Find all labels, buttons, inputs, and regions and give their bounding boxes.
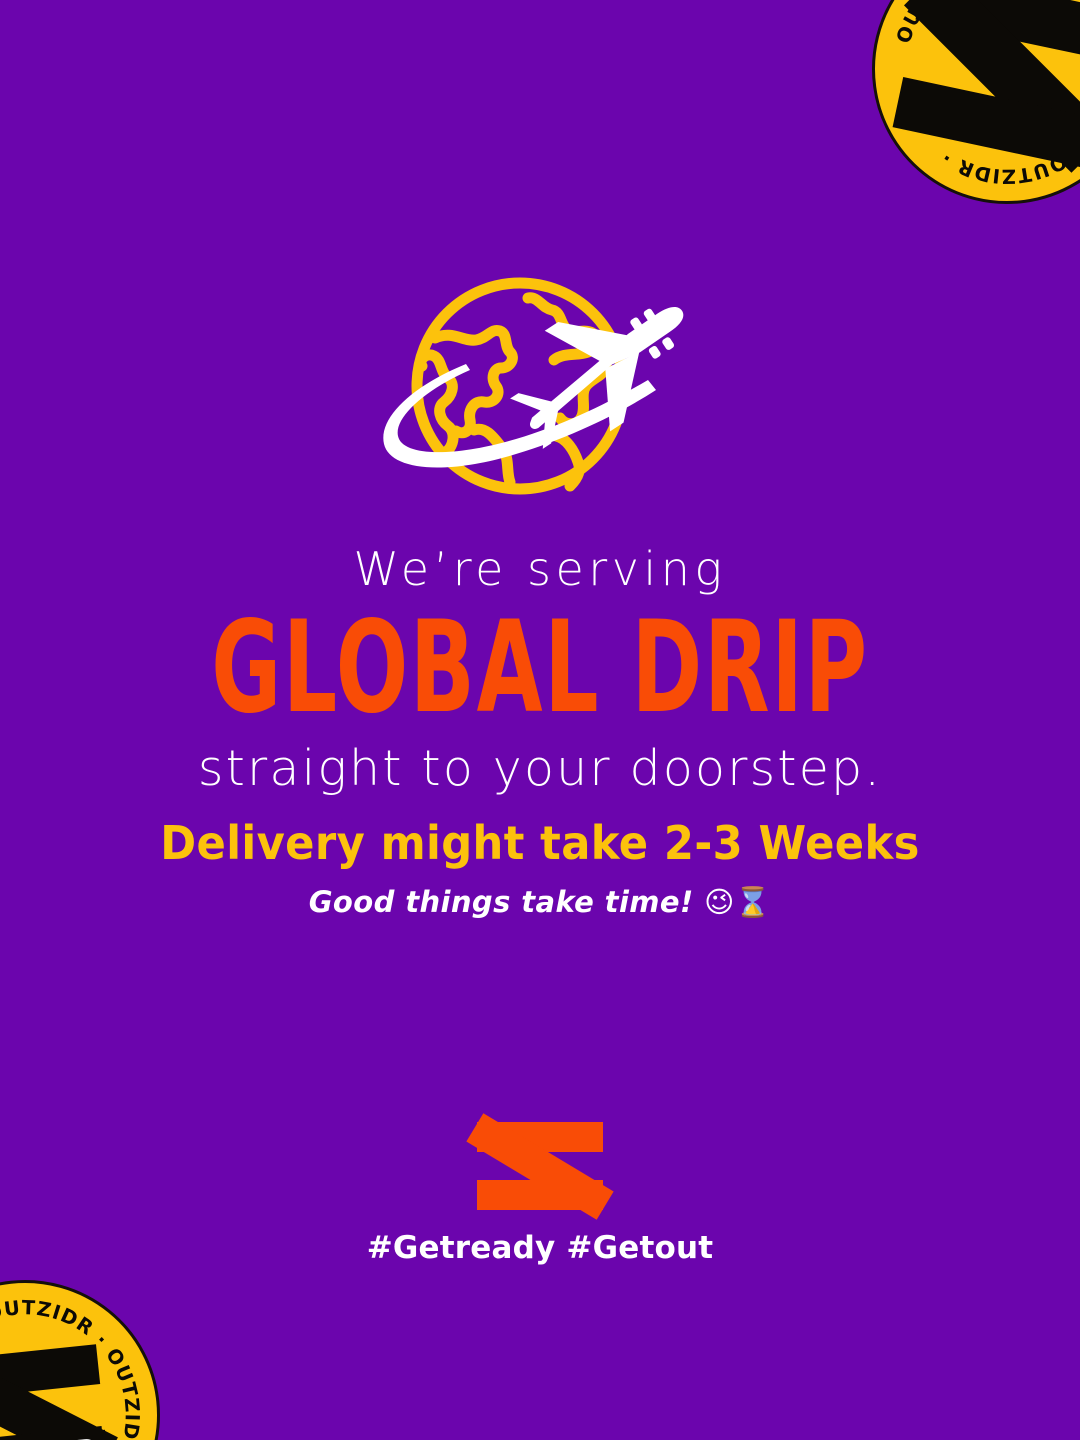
globe-with-airplane-icon xyxy=(360,268,720,518)
z-mark-icon xyxy=(0,1342,115,1440)
delivery-subnote-text: Good things take time! xyxy=(309,885,694,919)
main-copy-block: We’re serving GLOBAL DRIP straight to yo… xyxy=(0,545,1080,795)
stamp-badge-bottom-left: OUTZIDR · OUTZIDR · OUTZIDR · OUTZIDR · … xyxy=(0,1267,173,1440)
copy-eyebrow: We’re serving xyxy=(0,545,1080,593)
delivery-headline: Delivery might take 2-3 Weeks xyxy=(32,818,1047,869)
footer-brand-block: #Getready #Getout xyxy=(0,1122,1080,1266)
brand-z-bar-bottom xyxy=(477,1180,603,1210)
hourglass-emoji-icon: ⌛ xyxy=(735,885,772,919)
winking-face-emoji-icon: 😉 xyxy=(704,885,735,919)
stamp-core-z-bottom-left: OUTZIDR xyxy=(0,1342,115,1440)
stamp-badge-top-right: OUTZIDR · OUTZIDR · OUTZIDR · OUTZIDR · xyxy=(843,0,1080,233)
stamp-wordmark-suffix: IDR xyxy=(43,1434,98,1440)
footer-hashtags: #Getready #Getout xyxy=(0,1230,1080,1266)
delivery-note-block: Delivery might take 2-3 Weeks Good thing… xyxy=(0,818,1080,919)
delivery-subnote: Good things take time! 😉⌛ xyxy=(0,885,1080,920)
copy-headline: GLOBAL DRIP xyxy=(97,604,983,731)
hero-illustration xyxy=(0,268,1080,518)
copy-subline: straight to your doorstep. xyxy=(0,743,1080,794)
promo-poster: OUTZIDR · OUTZIDR · OUTZIDR · OUTZIDR · xyxy=(0,0,1080,1440)
brand-z-logo-icon xyxy=(477,1122,603,1210)
